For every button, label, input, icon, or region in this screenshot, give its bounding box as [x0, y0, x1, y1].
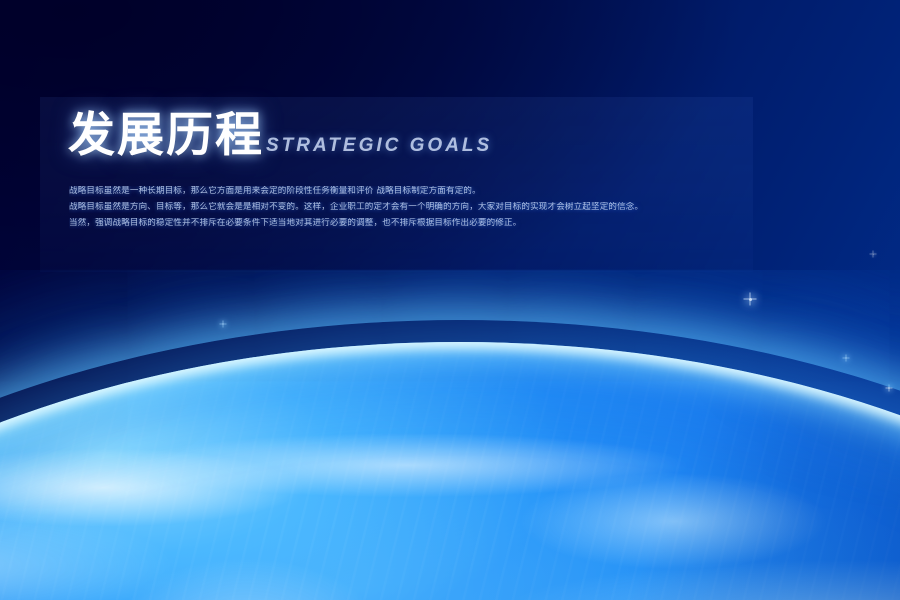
headline-group: 发展历程 STRATEGIC GOALS: [68, 112, 492, 159]
description-line-2: 战略目标虽然是方向、目标等，那么它就会是是相对不变的。这样，企业职工的定才会有一…: [69, 202, 769, 213]
earth-graphic: [0, 270, 900, 600]
description-line-1: 战略目标虽然是一种长期目标，那么它方面是用来会定的阶段性任务衡量和评价 战略目标…: [69, 186, 769, 197]
hero-banner-image: 发展历程 STRATEGIC GOALS 战略目标虽然是一种长期目标，那么它方面…: [0, 0, 900, 600]
page-subtitle: STRATEGIC GOALS: [266, 136, 492, 155]
page-title: 发展历程: [68, 112, 264, 159]
description-block: 战略目标虽然是一种长期目标，那么它方面是用来会定的阶段性任务衡量和评价 战略目标…: [69, 186, 769, 229]
earth-limb-highlight: [0, 342, 900, 600]
description-line-3: 当然，强调战略目标的稳定性并不排斥在必要条件下适当地对其进行必要的调整，也不排斥…: [69, 218, 769, 229]
